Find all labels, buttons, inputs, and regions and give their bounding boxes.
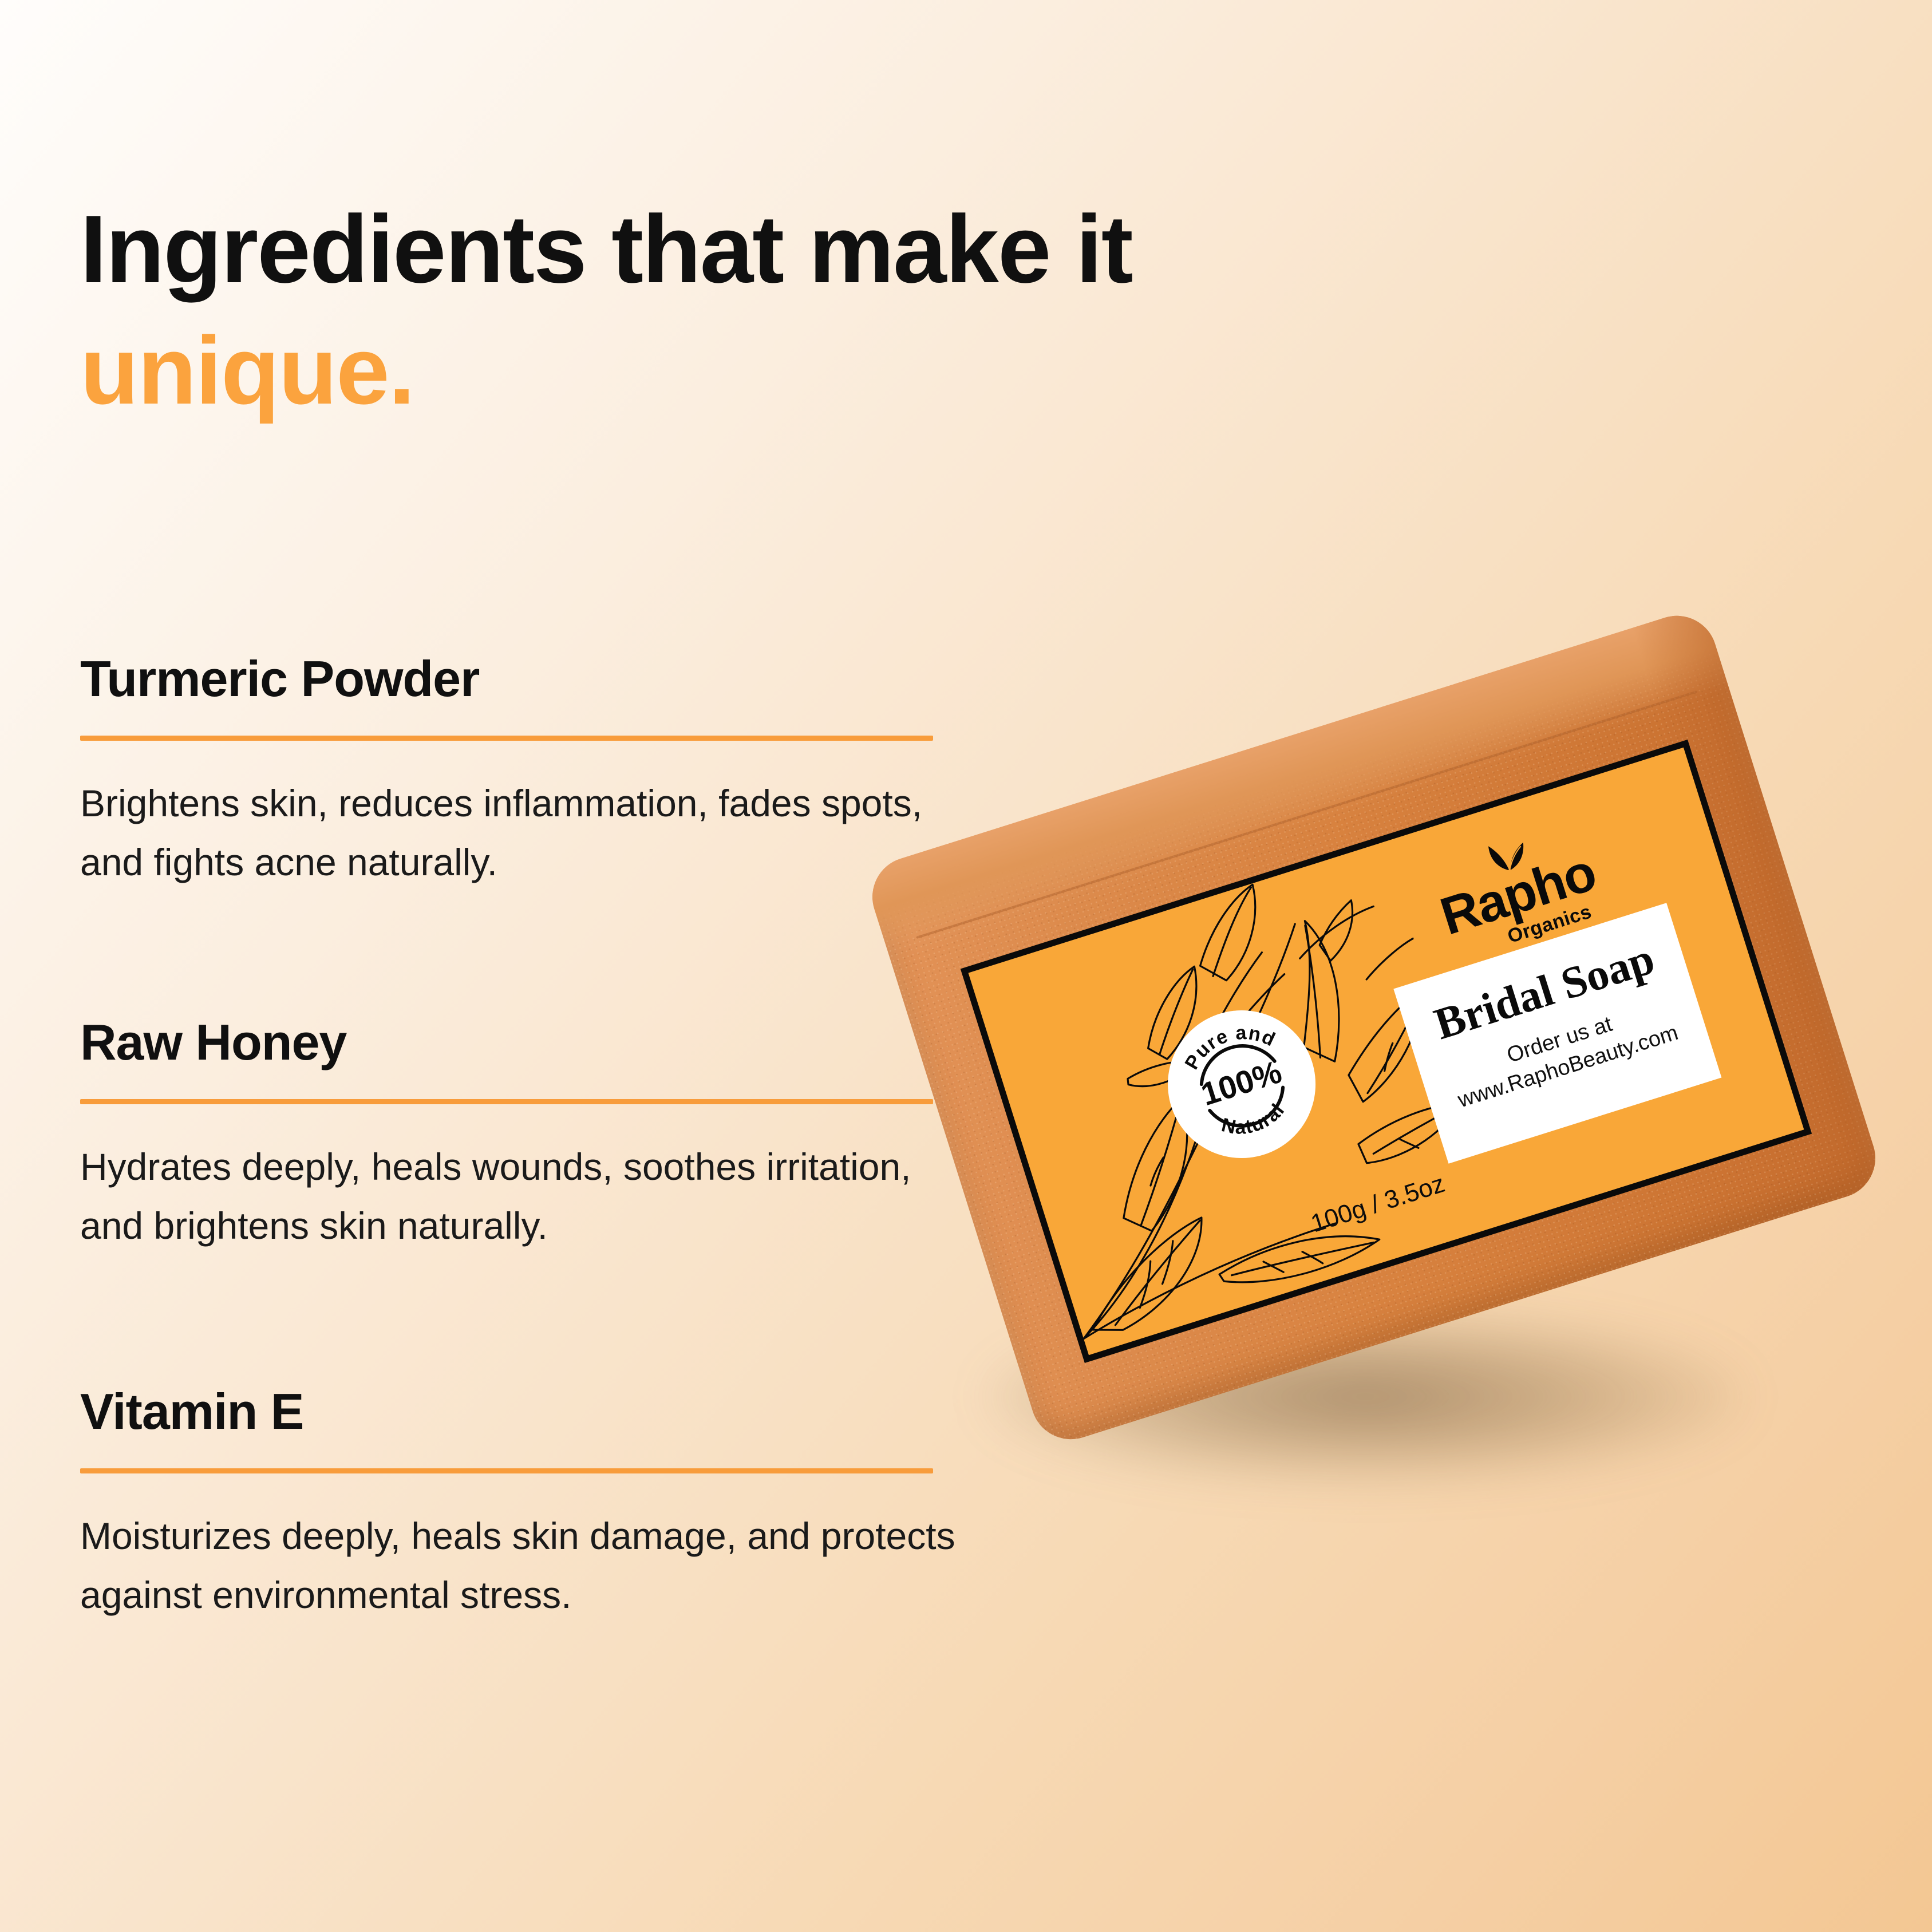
product-ingredients-poster: Ingredients that make it unique. Turmeri…	[0, 0, 1932, 1932]
headline-line-2-accent: unique.	[80, 310, 1397, 432]
ingredient-description: Hydrates deeply, heals wounds, soothes i…	[80, 1137, 973, 1255]
ingredient-title: Vitamin E	[80, 1382, 973, 1441]
product-weight: 100g / 3.5oz	[1307, 1170, 1448, 1239]
page-title: Ingredients that make it unique.	[80, 189, 1397, 431]
ingredient-description: Moisturizes deeply, heals skin damage, a…	[80, 1507, 973, 1625]
ingredient-block: Turmeric Powder Brightens skin, reduces …	[80, 650, 973, 892]
ingredient-title: Raw Honey	[80, 1013, 973, 1072]
ingredient-divider	[80, 1099, 933, 1104]
soap-bar: Pure and 100% Natural	[862, 606, 1885, 1449]
product-image: Pure and 100% Natural	[916, 670, 1932, 1586]
ingredient-block: Raw Honey Hydrates deeply, heals wounds,…	[80, 1013, 973, 1255]
ingredient-divider	[80, 1468, 933, 1473]
ingredient-description: Brightens skin, reduces inflammation, fa…	[80, 774, 973, 892]
headline-line-1: Ingredients that make it	[80, 195, 1132, 303]
purity-badge: Pure and 100% Natural	[1149, 991, 1334, 1177]
ingredient-title: Turmeric Powder	[80, 650, 973, 708]
ingredient-divider	[80, 736, 933, 741]
ingredient-block: Vitamin E Moisturizes deeply, heals skin…	[80, 1382, 973, 1625]
